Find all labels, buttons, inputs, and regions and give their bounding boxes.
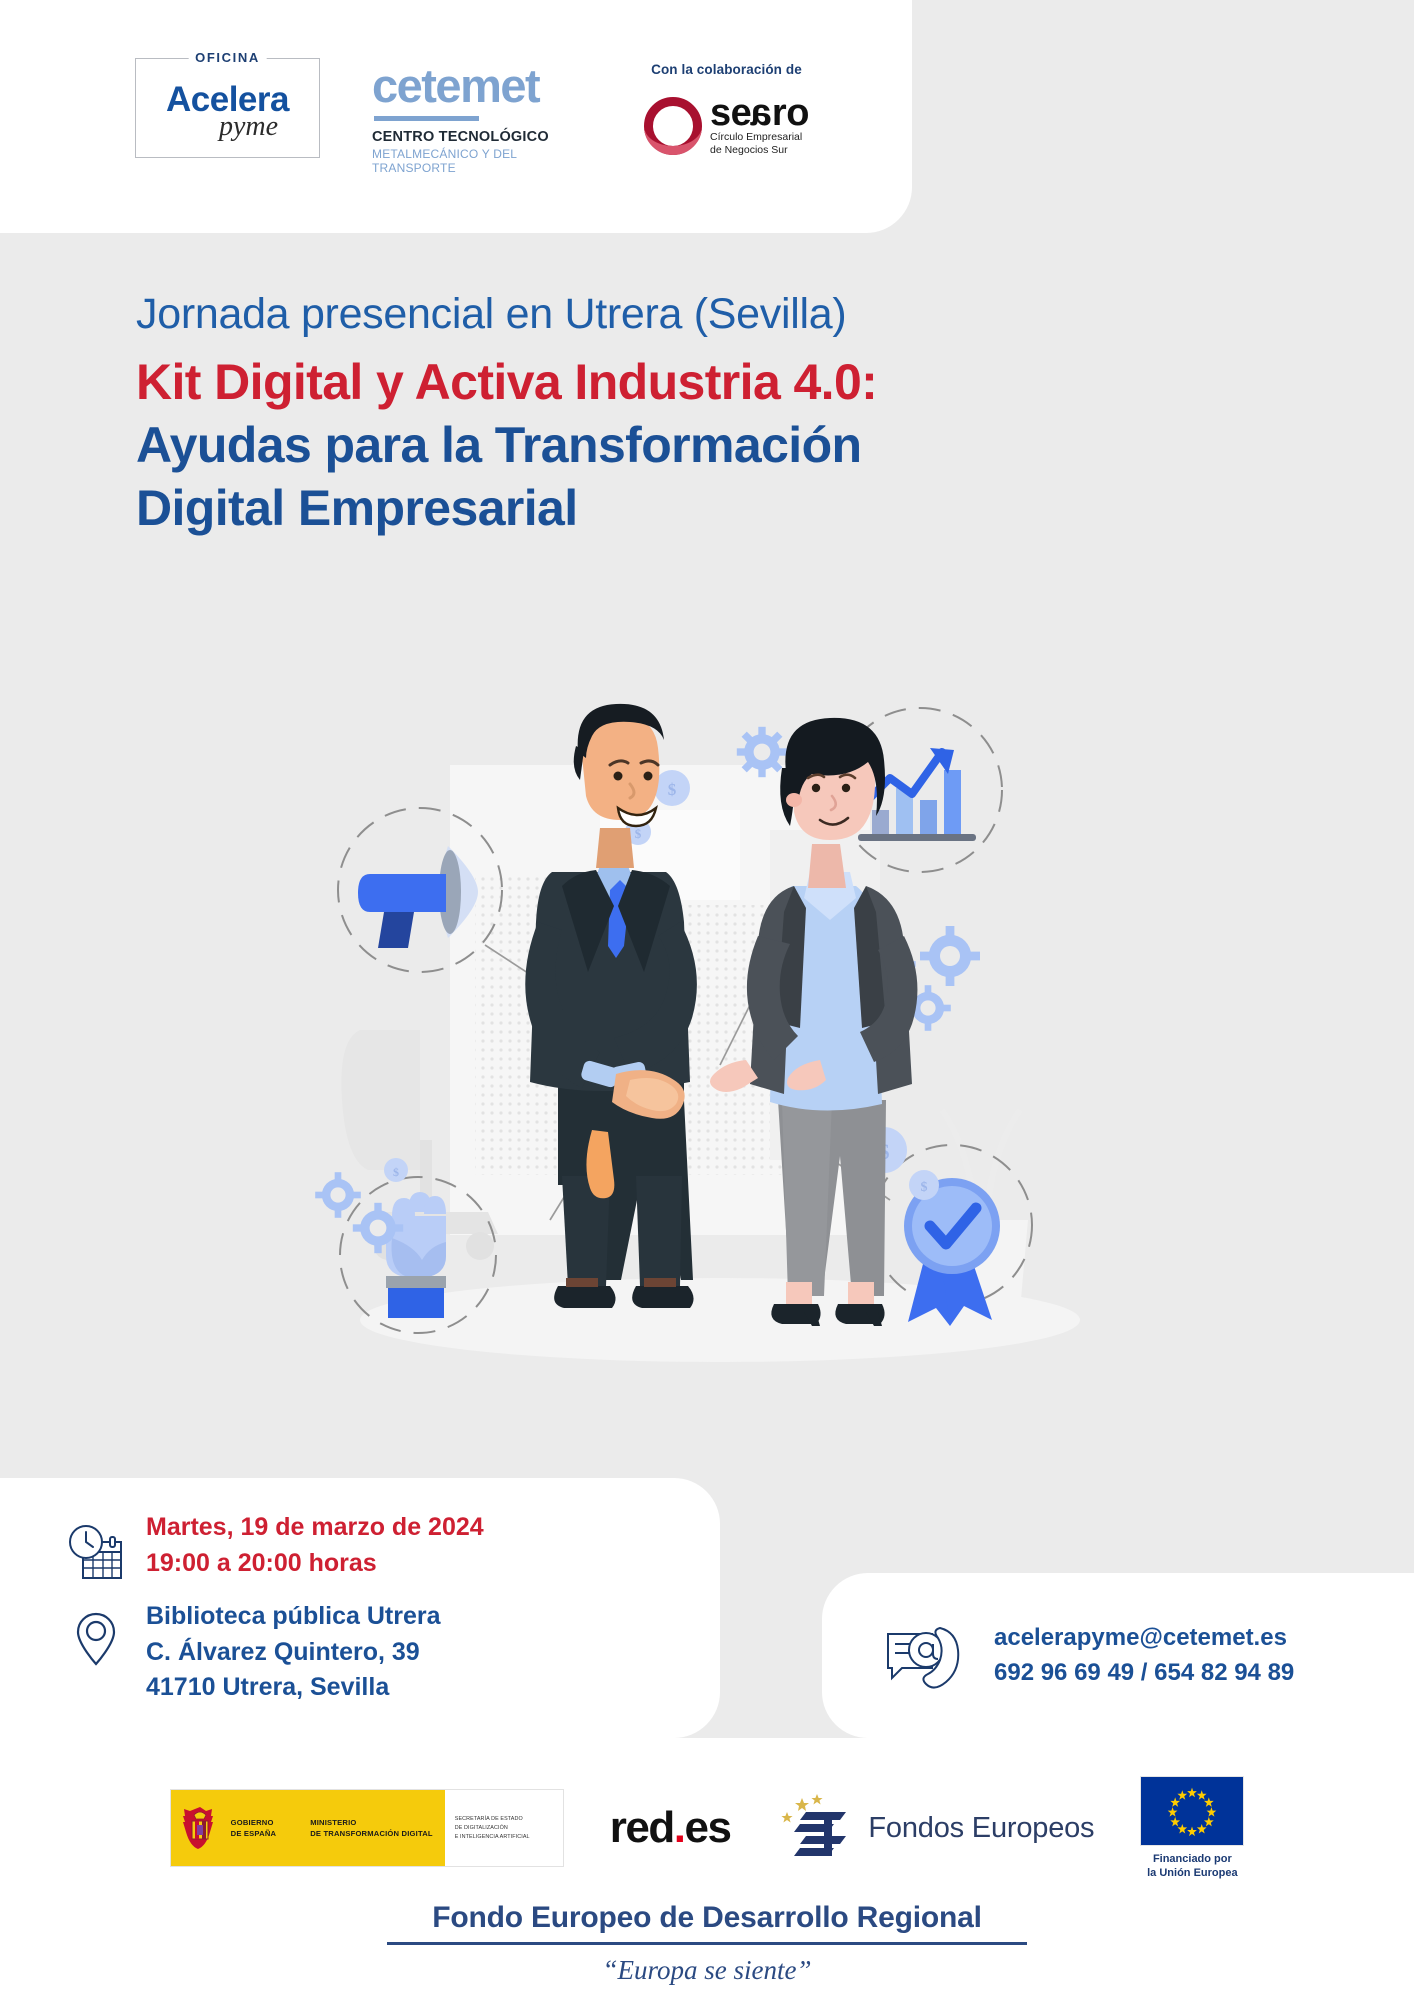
event-kicker: Jornada presencial en Utrera (Sevilla) (136, 290, 1316, 339)
contact-email[interactable]: acelerapyme@cetemet.es (994, 1621, 1294, 1655)
title-line-red: Kit Digital y Activa Industria 4.0: (136, 351, 1316, 414)
contact-row: acelerapyme@cetemet.es 692 96 69 49 / 65… (882, 1620, 1294, 1692)
poster-title-block: Jornada presencial en Utrera (Sevilla) K… (136, 290, 1316, 540)
searo-sub-2: de Negocios Sur (710, 144, 809, 157)
cetemet-tagline-2: METALMECÁNICO Y DEL TRANSPORTE (372, 147, 602, 175)
event-text-column: Martes, 19 de marzo de 2024 19:00 a 20:0… (138, 1510, 484, 1706)
contact-text: acelerapyme@cetemet.es 692 96 69 49 / 65… (994, 1621, 1294, 1689)
title-line-blue-2: Digital Empresarial (136, 477, 1316, 540)
eu-funding-caption: Financiado por la Unión Europea (1140, 1853, 1244, 1881)
feder-block: Fondo Europeo de Desarrollo Regional “Eu… (0, 1901, 1414, 1986)
event-details-grid: Martes, 19 de marzo de 2024 19:00 a 20:0… (58, 1510, 484, 1706)
redes-dot: . (674, 1803, 685, 1852)
searo-logo: searo Círculo Empresarial de Negocios Su… (644, 95, 809, 157)
location-pin-icon (74, 1610, 118, 1668)
redes-text-b: es (684, 1803, 730, 1852)
eu-caption-line-2: la Unión Europea (1140, 1867, 1244, 1881)
gobierno-espana-logo: GOBIERNO DE ESPAÑA MINISTERIO DE TRANSFO… (170, 1789, 564, 1867)
svg-text:$: $ (668, 780, 677, 799)
gobierno-line-2: DE ESPAÑA (231, 1828, 277, 1839)
svg-text:$: $ (921, 1180, 928, 1195)
gobierno-yellow-block: GOBIERNO DE ESPAÑA MINISTERIO DE TRANSFO… (171, 1790, 445, 1866)
gobierno-line-1: GOBIERNO (231, 1817, 277, 1828)
event-city: 41710 Utrera, Sevilla (146, 1670, 484, 1706)
event-details-card: Martes, 19 de marzo de 2024 19:00 a 20:0… (0, 1478, 720, 1738)
searo-name: searo (710, 95, 809, 131)
acelera-sub-label: pyme (219, 113, 278, 141)
footer-logo-row: GOBIERNO DE ESPAÑA MINISTERIO DE TRANSFO… (0, 1738, 1414, 1881)
feder-rule (387, 1942, 1027, 1945)
fondos-europeos-logo: Fondos Europeos (776, 1792, 1094, 1864)
eu-funding-logo: Financiado por la Unión Europea (1140, 1776, 1244, 1881)
cetemet-tagline-1: CENTRO TECNOLÓGICO (372, 129, 602, 145)
acelera-oficina-label: OFICINA (188, 50, 267, 65)
secretaria-text: SECRETARÍA DE ESTADO DE DIGITALIZACIÓN E… (455, 1815, 530, 1842)
eu-caption-line-1: Financiado por (1140, 1853, 1244, 1867)
searo-ring-icon (644, 97, 702, 155)
ministerio-text: MINISTERIO DE TRANSFORMACIÓN DIGITAL (310, 1817, 433, 1839)
cetemet-name: cetemet (372, 64, 602, 107)
ministerio-line-1: MINISTERIO (310, 1817, 433, 1828)
calendar-clock-icon (65, 1522, 127, 1584)
feder-slogan: “Europa se siente” (0, 1955, 1414, 1986)
header-logo-row: OFICINA Acelera pyme cetemet CENTRO TECN… (0, 58, 809, 175)
eu-flag-icon (1140, 1776, 1244, 1846)
fondos-europeos-label: Fondos Europeos (868, 1812, 1094, 1845)
secretaria-block: SECRETARÍA DE ESTADO DE DIGITALIZACIÓN E… (445, 1790, 563, 1866)
event-date: Martes, 19 de marzo de 2024 (146, 1510, 484, 1546)
secretaria-line-2: DE DIGITALIZACIÓN (455, 1824, 530, 1833)
secretaria-line-3: E INTELIGENCIA ARTIFICIAL (455, 1833, 530, 1842)
redes-logo: red.es (610, 1806, 731, 1850)
email-phone-icon (882, 1620, 968, 1692)
feder-title: Fondo Europeo de Desarrollo Regional (0, 1901, 1414, 1935)
collaboration-label: Con la colaboración de (644, 62, 809, 77)
cetemet-rule (374, 116, 479, 121)
contact-card: acelerapyme@cetemet.es 692 96 69 49 / 65… (822, 1573, 1414, 1738)
redes-text-a: red (610, 1803, 674, 1852)
contact-phones[interactable]: 692 96 69 49 / 654 82 94 89 (994, 1656, 1294, 1690)
acelera-pyme-logo: OFICINA Acelera pyme (135, 58, 320, 158)
event-time: 19:00 a 20:00 horas (146, 1546, 484, 1582)
header-logo-card: OFICINA Acelera pyme cetemet CENTRO TECN… (0, 0, 912, 233)
svg-text:$: $ (393, 1165, 399, 1179)
secretaria-line-1: SECRETARÍA DE ESTADO (455, 1815, 530, 1824)
svg-text:$: $ (635, 826, 642, 841)
handshake-illustration: $ $ $ $ $ $ (300, 660, 1130, 1420)
event-street: C. Álvarez Quintero, 39 (146, 1635, 484, 1671)
title-line-blue-1: Ayudas para la Transformación (136, 414, 1316, 477)
event-icon-column (58, 1510, 134, 1704)
cetemet-logo: cetemet CENTRO TECNOLÓGICO METALMECÁNICO… (372, 58, 602, 175)
ministerio-line-2: DE TRANSFORMACIÓN DIGITAL (310, 1828, 433, 1839)
searo-logo-block: Con la colaboración de searo Círculo Emp… (644, 58, 809, 157)
location-pin-icon-slot (58, 1596, 134, 1704)
gobierno-text: GOBIERNO DE ESPAÑA (231, 1817, 277, 1839)
event-venue: Biblioteca pública Utrera (146, 1599, 484, 1635)
calendar-clock-icon-slot (58, 1510, 134, 1596)
footer: GOBIERNO DE ESPAÑA MINISTERIO DE TRANSFO… (0, 1738, 1414, 2000)
fondos-europeos-mark-icon (776, 1792, 854, 1864)
searo-text: searo Círculo Empresarial de Negocios Su… (710, 95, 809, 157)
spain-coat-of-arms-icon (183, 1805, 217, 1851)
